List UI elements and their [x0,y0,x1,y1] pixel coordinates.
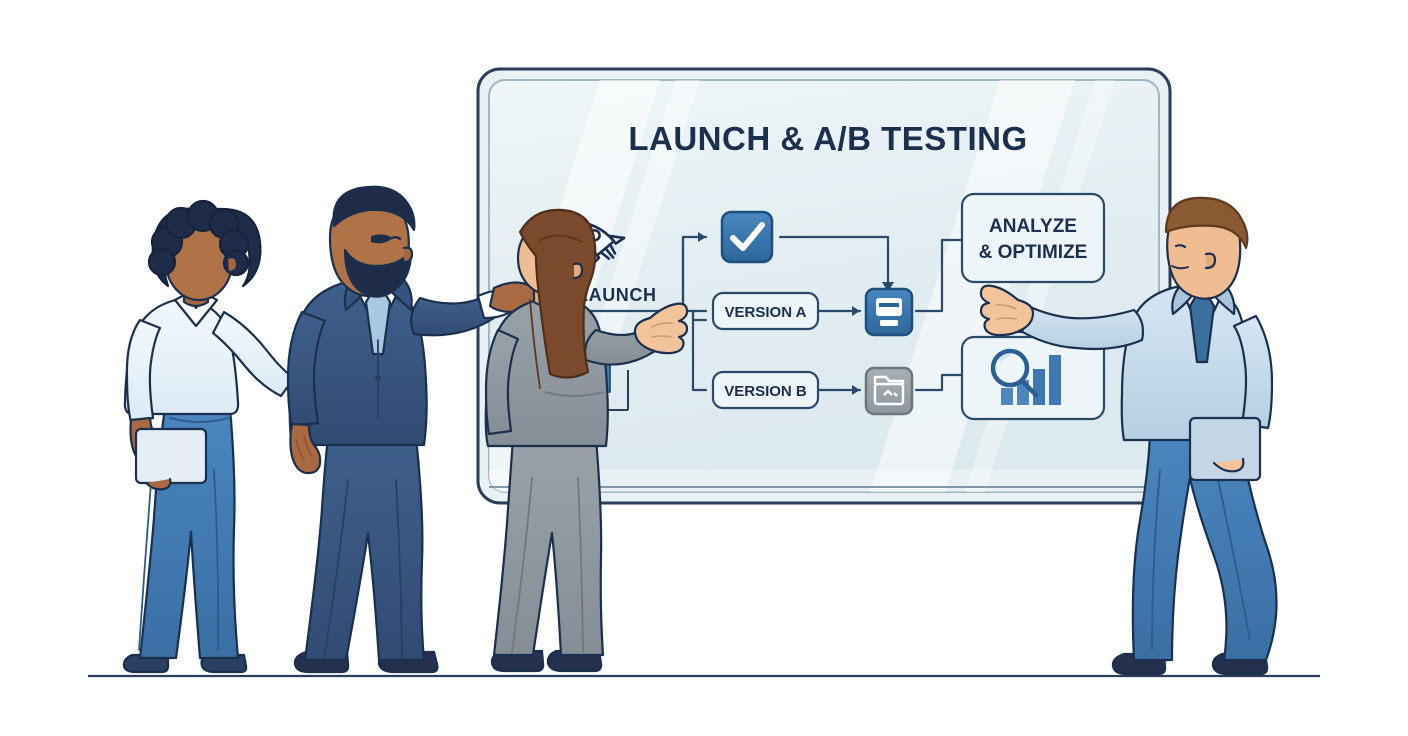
scene-svg: LAUNCH & A/B TESTING LAUNCH [0,0,1408,736]
board-title: LAUNCH & A/B TESTING [628,120,1027,157]
version-a-label: VERSION A [725,304,807,321]
node-archive[interactable] [866,368,912,414]
monitor-icon-line [879,303,899,307]
node-version-b[interactable]: VERSION B [713,372,818,408]
analyze-label-line2: & OPTIMIZE [979,242,1088,263]
version-b-label: VERSION B [724,383,807,400]
check-icon-bg [722,212,772,262]
monitor-icon-stand [880,320,898,326]
node-monitor[interactable] [866,289,912,335]
analyze-label-line1: ANALYZE [989,216,1077,237]
node-version-a[interactable]: VERSION A [713,293,818,329]
illustration-scene: LAUNCH & A/B TESTING LAUNCH [0,0,1408,736]
node-check[interactable] [722,212,772,262]
node-analyze[interactable]: ANALYZE & OPTIMIZE [962,194,1104,282]
analyze-box [962,194,1104,282]
